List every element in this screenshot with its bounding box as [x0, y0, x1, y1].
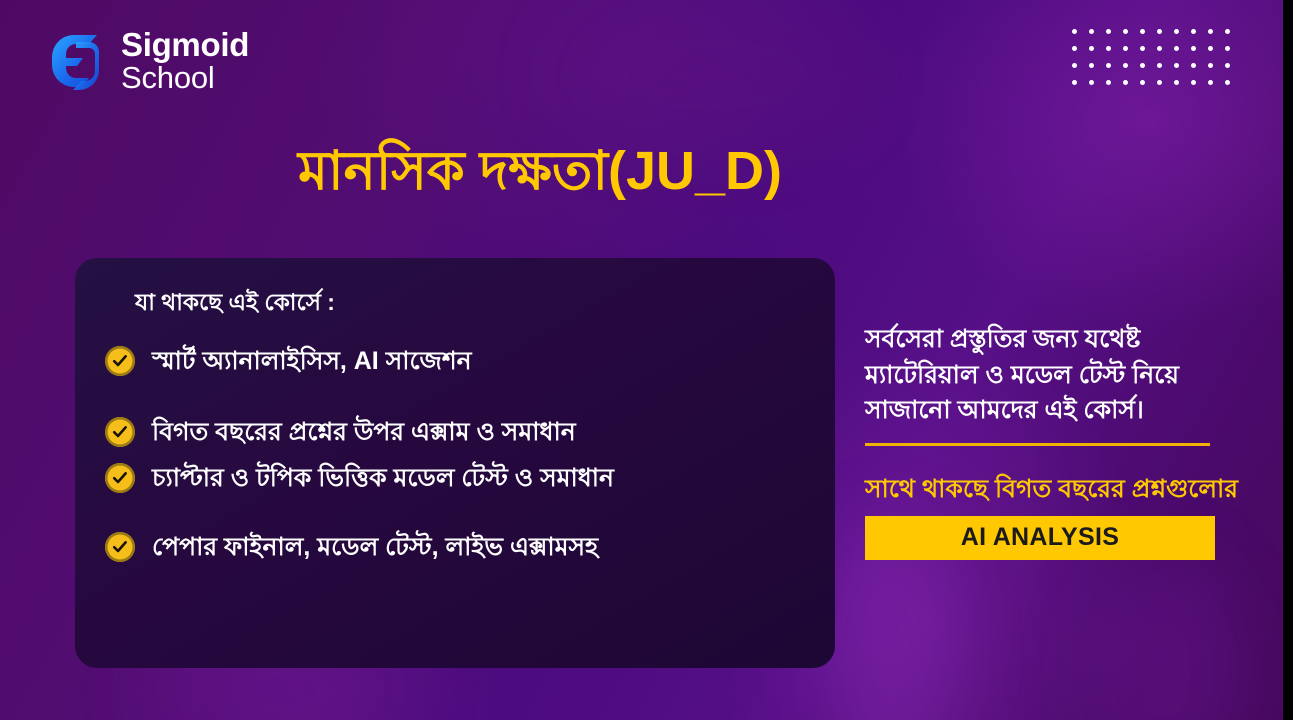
list-item: চ্যাপ্টার ও টপিক ভিত্তিক মডেল টেস্ট ও সম… [105, 462, 805, 495]
banner-stage: Sigmoid School মানসিক দক্ষতা(JU_D) যা থা… [0, 0, 1293, 720]
feature-label: পেপার ফাইনাল, মডেল টেস্ট, লাইভ এক্সামসহ [152, 531, 598, 564]
check-circle-icon [105, 417, 135, 447]
check-circle-icon [105, 463, 135, 493]
feature-card: যা থাকছে এই কোর্সে : স্মার্ট অ্যানালাইসি… [75, 258, 835, 668]
promo-subtext: সাথে থাকছে বিগত বছরের প্রশ্নগুলোর [865, 474, 1283, 504]
brand-name-line2: School [121, 62, 249, 94]
brand-name-line1: Sigmoid [121, 28, 249, 62]
list-item: বিগত বছরের প্রশ্নের উপর এক্সাম ও সমাধান [105, 416, 805, 449]
promo-paragraph: সর্বসেরা প্রস্তুতির জন্য যথেষ্ট ম্যাটেরি… [865, 322, 1220, 429]
brand-name: Sigmoid School [121, 28, 249, 95]
feature-label: বিগত বছরের প্রশ্নের উপর এক্সাম ও সমাধান [152, 416, 576, 449]
feature-list: স্মার্ট অ্যানালাইসিস, AI সাজেশন বিগত বছর… [105, 345, 805, 563]
background-blob [1090, 560, 1240, 720]
list-item: স্মার্ট অ্যানালাইসিস, AI সাজেশন [105, 345, 805, 378]
feature-card-title: যা থাকছে এই কোর্সে : [135, 284, 805, 323]
page-title: মানসিক দক্ষতা(JU_D) [0, 140, 1080, 204]
feature-label: চ্যাপ্টার ও টপিক ভিত্তিক মডেল টেস্ট ও সম… [152, 462, 614, 495]
right-column: সর্বসেরা প্রস্তুতির জন্য যথেষ্ট ম্যাটেরি… [865, 322, 1283, 560]
check-circle-icon [105, 532, 135, 562]
right-black-rail [1283, 0, 1293, 720]
check-circle-icon [105, 346, 135, 376]
background-blob [560, 0, 860, 150]
sigmoid-s-logo-icon [45, 32, 107, 90]
brand-logo[interactable]: Sigmoid School [45, 28, 249, 95]
promo-banner: Sigmoid School মানসিক দক্ষতা(JU_D) যা থা… [0, 0, 1283, 720]
list-item: পেপার ফাইনাল, মডেল টেস্ট, লাইভ এক্সামসহ [105, 531, 805, 564]
feature-label: স্মার্ট অ্যানালাইসিস, AI সাজেশন [152, 345, 472, 378]
dot-grid-icon [1072, 29, 1242, 97]
ai-analysis-button[interactable]: AI ANALYSIS [865, 516, 1215, 560]
gold-divider [865, 443, 1210, 446]
